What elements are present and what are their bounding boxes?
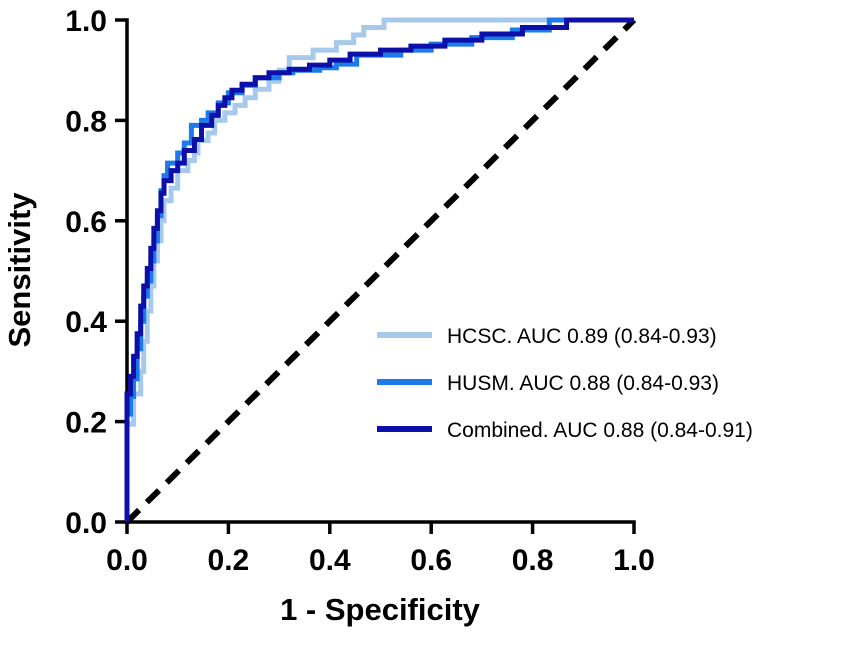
reference-diagonal [127,20,634,522]
legend-item-hcsc: HCSC. AUC 0.89 (0.84-0.93) [377,325,717,348]
axis-lines [127,20,634,522]
y-tick-label-1: 0.2 [65,407,107,440]
x-tick-label-3: 0.6 [410,544,452,577]
x-tick-label-5: 1.0 [613,544,655,577]
y-axis-tick-labels: 0.00.20.40.60.81.0 [65,5,107,540]
chance-diagonal-line [127,20,634,522]
y-tick-label-3: 0.6 [65,206,107,239]
x-tick-label-1: 0.2 [208,544,250,577]
legend-item-husm: HUSM. AUC 0.88 (0.84-0.93) [377,372,719,395]
legend-label-husm: HUSM. AUC 0.88 (0.84-0.93) [447,372,719,395]
y-tick-label-5: 1.0 [65,5,107,38]
roc-curve-hcsc [127,20,634,522]
legend-label-hcsc: HCSC. AUC 0.89 (0.84-0.93) [447,325,717,348]
roc-plot-svg: 0.00.20.40.60.81.0 0.00.20.40.60.81.0 HC… [0,0,851,647]
x-tick-label-4: 0.8 [512,544,554,577]
roc-chart-figure: 0.00.20.40.60.81.0 0.00.20.40.60.81.0 HC… [0,0,851,647]
roc-curve-husm [127,20,634,522]
x-axis-title: 1 - Specificity [280,592,481,627]
roc-curve-combined [127,20,634,522]
y-tick-label-4: 0.8 [65,105,107,138]
x-axis-tick-marks [127,522,634,534]
y-tick-label-2: 0.4 [65,306,107,339]
chart-legend: HCSC. AUC 0.89 (0.84-0.93)HUSM. AUC 0.88… [377,325,753,442]
y-axis-title: Sensitivity [2,192,37,348]
legend-item-combined: Combined. AUC 0.88 (0.84-0.91) [377,419,753,442]
legend-label-combined: Combined. AUC 0.88 (0.84-0.91) [447,419,753,442]
x-axis-tick-labels: 0.00.20.40.60.81.0 [106,544,655,577]
roc-curves [127,20,634,522]
x-tick-label-2: 0.4 [309,544,351,577]
y-tick-label-0: 0.0 [65,507,107,540]
x-tick-label-0: 0.0 [106,544,148,577]
